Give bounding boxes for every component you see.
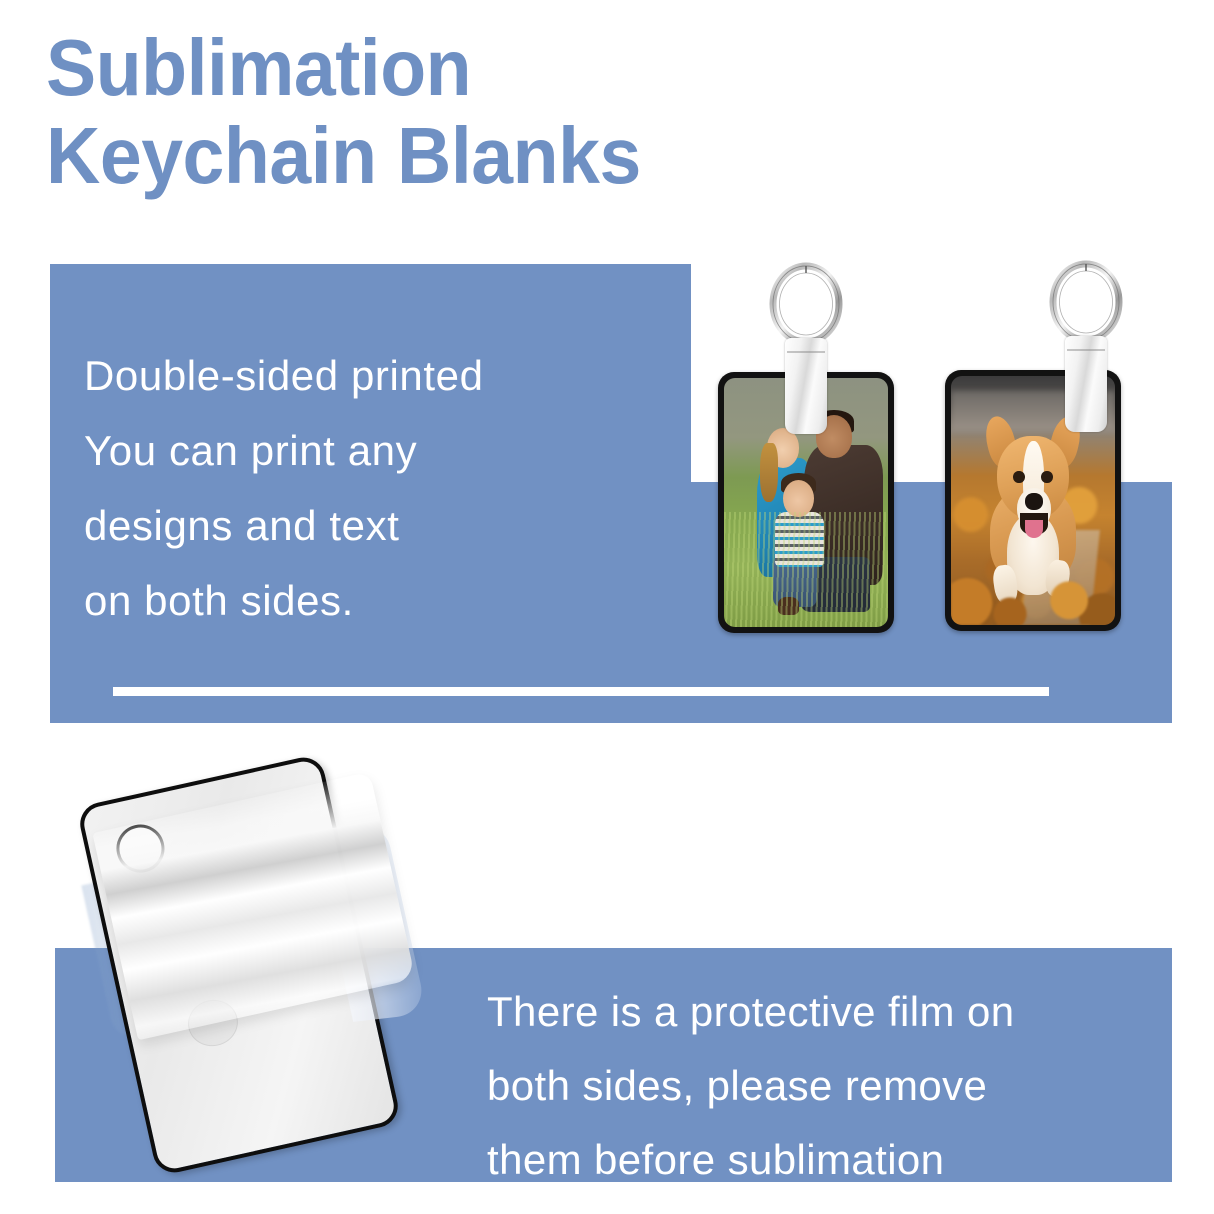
feature-two-line-2: both sides, please remove: [487, 1049, 1187, 1123]
title-line-2: Keychain Blanks: [46, 112, 854, 200]
keychain-clamp: [1065, 336, 1107, 432]
split-ring-icon: [1047, 260, 1125, 348]
feature-two-line-3: them before sublimation: [487, 1123, 1187, 1197]
title-line-1: Sublimation: [46, 24, 854, 112]
corgi-photo-keychain: [945, 260, 1121, 631]
infographic-page: Sublimation Keychain Blanks Double-sided…: [0, 0, 1214, 1214]
feature-one-line-3: designs and text: [84, 488, 704, 563]
page-title: Sublimation Keychain Blanks: [46, 24, 906, 200]
feature-one-line-4: on both sides.: [84, 563, 704, 638]
family-photo-keychain: [718, 262, 894, 633]
keychain-clamp: [785, 338, 827, 434]
feature-two-line-1: There is a protective film on: [487, 975, 1187, 1049]
feature-one-line-2: You can print any: [84, 413, 704, 488]
blank-keychain-with-film: [96, 758, 456, 1178]
feature-one-line-1: Double-sided printed: [84, 338, 704, 413]
feature-one-text: Double-sided printed You can print any d…: [84, 338, 704, 638]
divider-rule: [113, 687, 1049, 696]
feature-two-text: There is a protective film on both sides…: [487, 975, 1187, 1197]
split-ring-icon: [767, 262, 845, 350]
